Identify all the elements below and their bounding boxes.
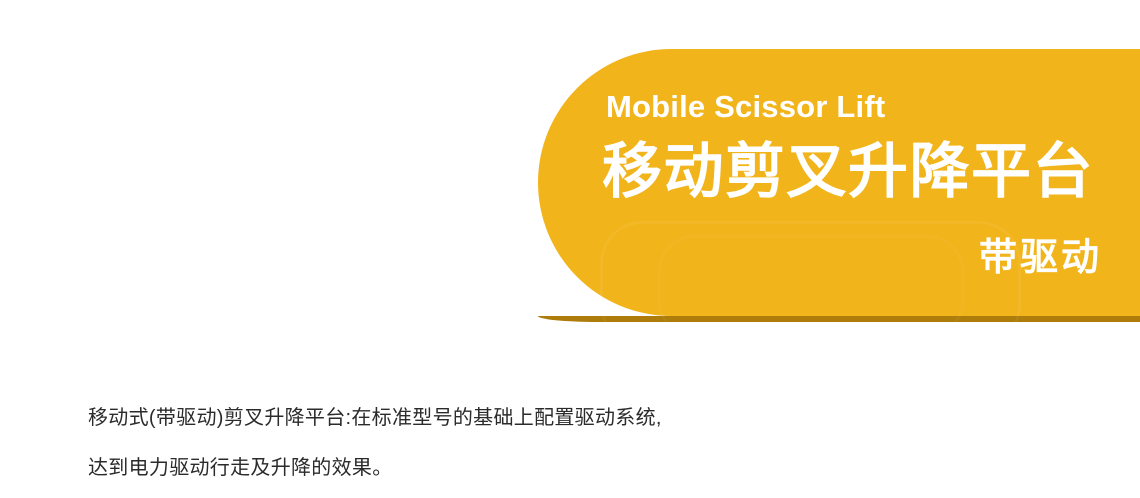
- product-description: 移动式(带驱动)剪叉升降平台:在标准型号的基础上配置驱动系统, 达到电力驱动行走…: [88, 393, 988, 493]
- description-line-2: 达到电力驱动行走及升降的效果。: [88, 443, 988, 493]
- product-title-banner: Mobile Scissor Lift 移动剪叉升降平台 带驱动: [538, 49, 1140, 322]
- banner-english-subtitle: Mobile Scissor Lift: [606, 91, 885, 122]
- description-line-1: 移动式(带驱动)剪叉升降平台:在标准型号的基础上配置驱动系统,: [88, 393, 988, 443]
- banner-variant-label: 带驱动: [979, 239, 1102, 277]
- banner-main-title: 移动剪叉升降平台: [602, 142, 1094, 202]
- banner-text-group: Mobile Scissor Lift 移动剪叉升降平台 带驱动: [538, 49, 1140, 322]
